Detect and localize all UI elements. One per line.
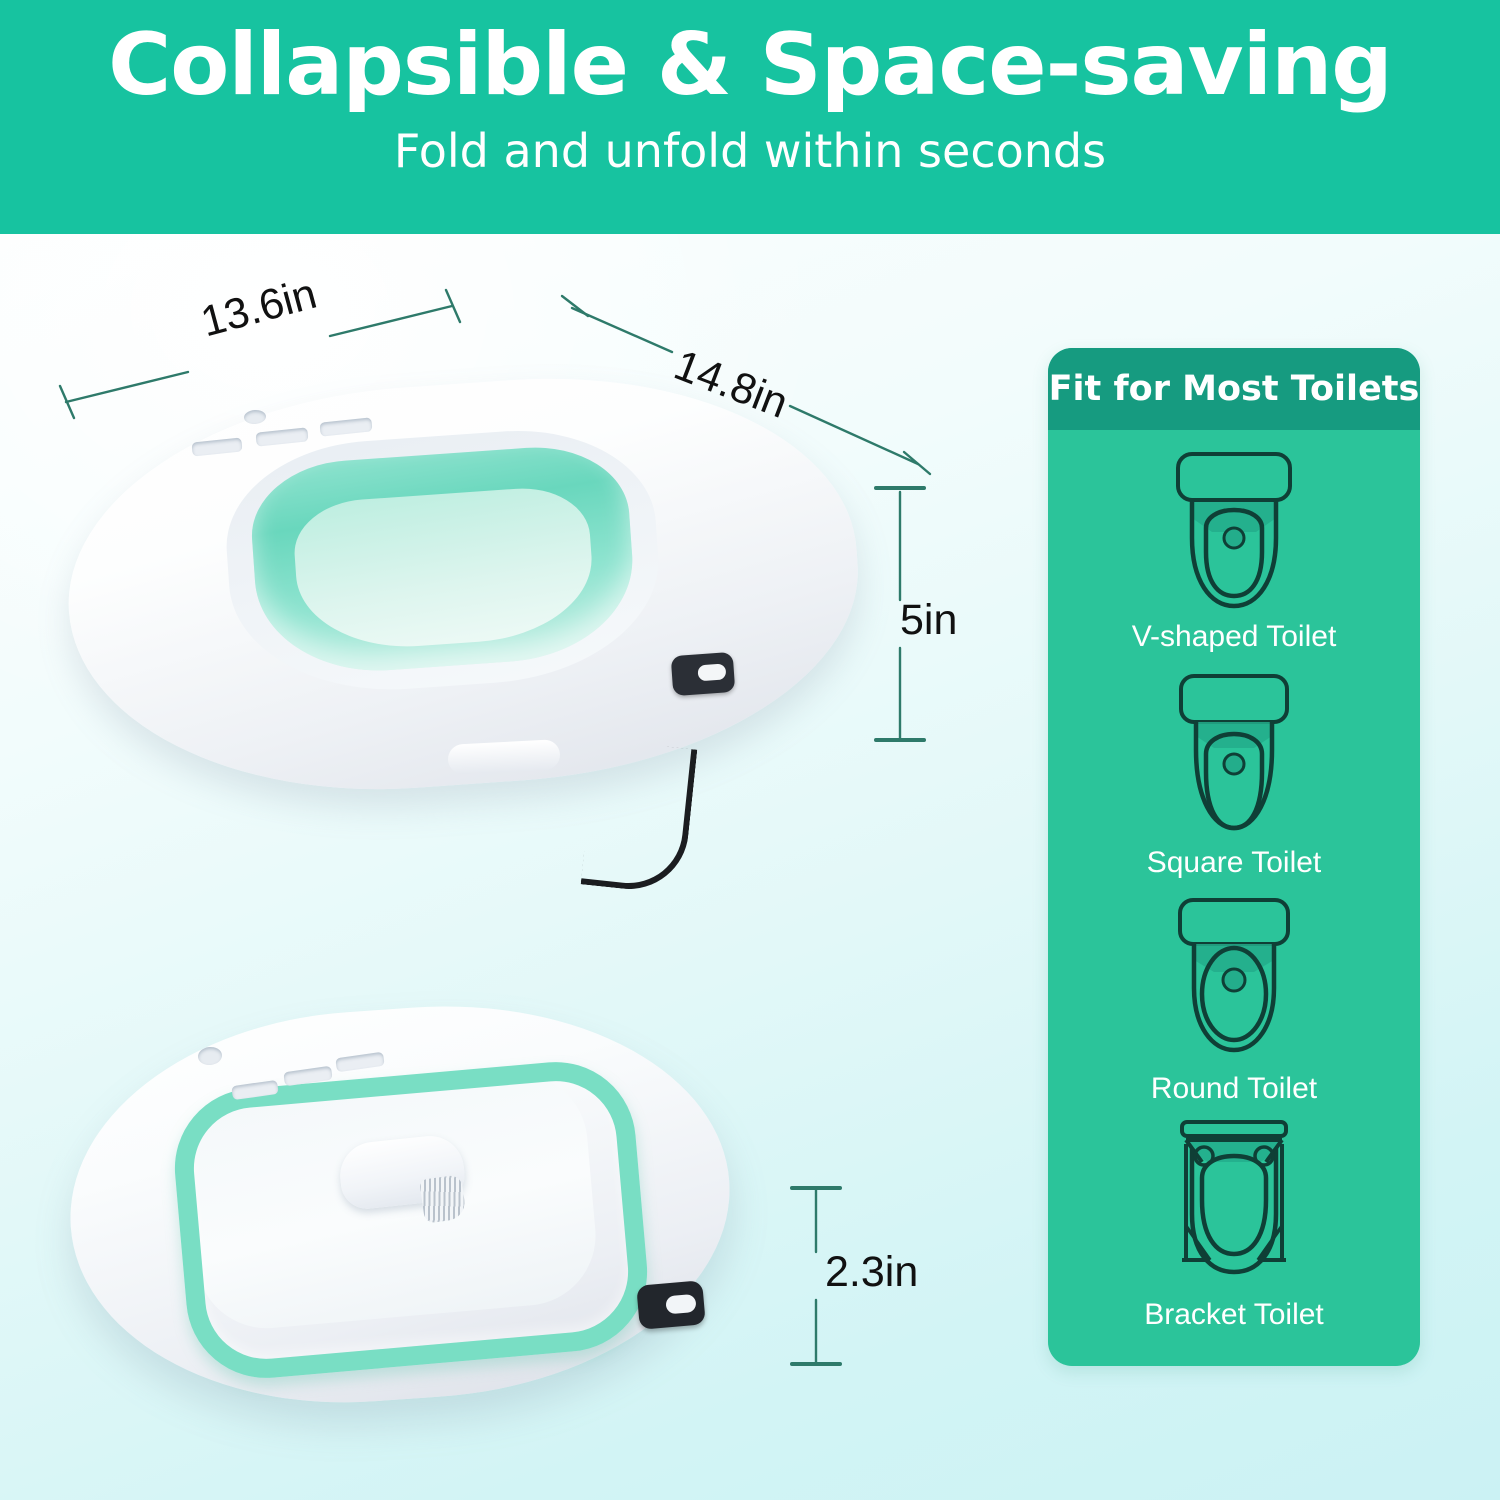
toilet-type-item-round[interactable]: Round Toilet bbox=[1048, 888, 1420, 1114]
folded-bidet-bellows-ring bbox=[168, 1055, 654, 1384]
banner-subtitle: Fold and unfold within seconds bbox=[394, 124, 1106, 178]
header-banner: Collapsible & Space-saving Fold and unfo… bbox=[0, 0, 1500, 234]
toilet-type-item-v-shaped[interactable]: V-shaped Toilet bbox=[1048, 436, 1420, 662]
toilet-type-label: Square Toilet bbox=[1147, 846, 1322, 880]
banner-title: Collapsible & Space-saving bbox=[108, 22, 1392, 110]
product-stage bbox=[0, 234, 1040, 1500]
square-toilet-icon bbox=[1134, 662, 1334, 848]
toilet-type-label: V-shaped Toilet bbox=[1132, 620, 1337, 654]
bidet-nozzle bbox=[447, 739, 560, 775]
bracket-toilet-icon bbox=[1134, 1114, 1334, 1300]
panel-header: Fit for Most Toilets bbox=[1048, 348, 1420, 430]
toilet-type-item-bracket[interactable]: Bracket Toilet bbox=[1048, 1114, 1420, 1340]
panel-header-text: Fit for Most Toilets bbox=[1049, 369, 1420, 409]
dimension-label-height-folded: 2.3in bbox=[825, 1248, 918, 1297]
dimension-label-height-open: 5in bbox=[900, 596, 957, 645]
product-infographic: Collapsible & Space-saving Fold and unfo… bbox=[0, 0, 1500, 1500]
folded-bidet-image bbox=[40, 999, 760, 1429]
fit-for-most-toilets-panel: Fit for Most Toilets V-shaped Toilet bbox=[1048, 348, 1420, 1366]
toilet-type-list: V-shaped Toilet Square Toilet bbox=[1048, 430, 1420, 1340]
round-toilet-icon bbox=[1134, 888, 1334, 1074]
bidet-tube bbox=[581, 739, 698, 895]
toilet-type-label: Round Toilet bbox=[1151, 1072, 1317, 1106]
unfolded-bidet-image bbox=[48, 344, 878, 864]
v-shaped-toilet-icon bbox=[1134, 436, 1334, 622]
bidet-power-switch[interactable] bbox=[671, 652, 736, 696]
toilet-type-item-square[interactable]: Square Toilet bbox=[1048, 662, 1420, 888]
folded-bidet-power-switch[interactable] bbox=[636, 1280, 706, 1330]
toilet-type-label: Bracket Toilet bbox=[1144, 1298, 1324, 1332]
